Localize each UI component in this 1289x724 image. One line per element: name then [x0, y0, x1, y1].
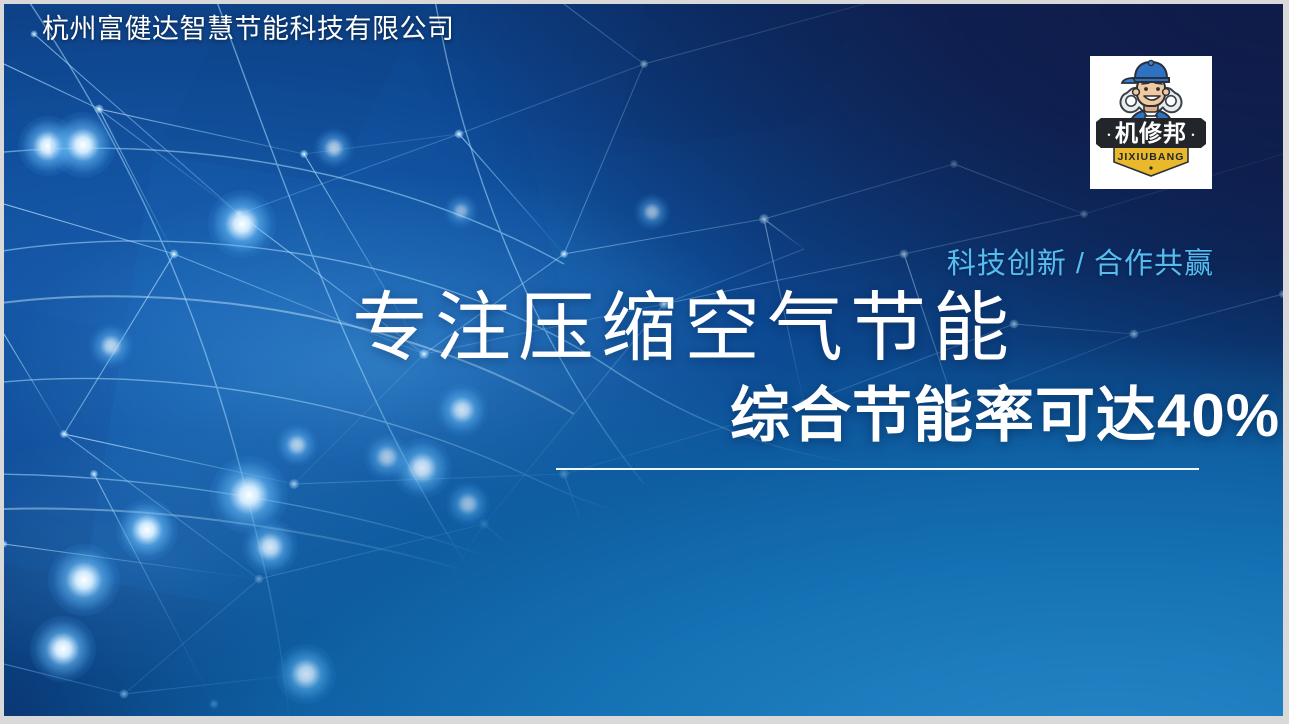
brand-logo-artwork: JIXIUBANG • 机修邦 • [1090, 56, 1212, 189]
slide-subheadline: 综合节能率可达40% [730, 384, 1280, 447]
slide-canvas: 杭州富健达智慧节能科技有限公司 [4, 4, 1283, 716]
logo-brand-cn: 机修邦 [1115, 120, 1187, 146]
logo-shield-dot [1149, 166, 1152, 169]
company-name: 杭州富健达智慧节能科技有限公司 [42, 14, 455, 45]
slide-headline: 专注压缩空气节能 [352, 291, 1016, 367]
logo-right-dot: • [1191, 130, 1194, 140]
headline-divider [556, 468, 1199, 470]
slide-tagline: 科技创新 / 合作共赢 [947, 247, 1214, 282]
logo-left-dot: • [1107, 130, 1110, 140]
logo-brand-en: JIXIUBANG [1117, 151, 1184, 163]
slide-root: 杭州富健达智慧节能科技有限公司 [0, 0, 1289, 724]
brand-logo: JIXIUBANG • 机修邦 • [1090, 56, 1212, 189]
